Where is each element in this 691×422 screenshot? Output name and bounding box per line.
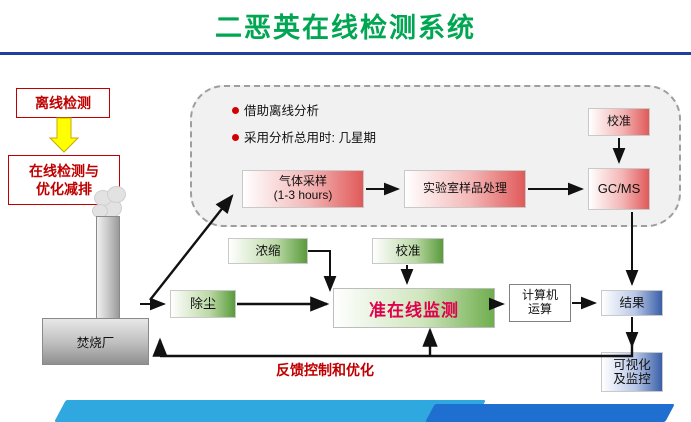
footer-swoosh-light (54, 400, 486, 422)
dust-removal-box: 除尘 (170, 290, 236, 318)
feedback-label: 反馈控制和优化 (276, 360, 374, 380)
online-detection-label: 在线检测与 优化减排 (29, 162, 99, 198)
result-box: 结果 (601, 290, 663, 316)
chimney-icon (96, 216, 120, 326)
calibration-top-box: 校准 (588, 108, 650, 136)
visualization-box: 可视化 及监控 (601, 352, 663, 392)
footer-swoosh-dark (425, 404, 675, 422)
offline-detection-box: 离线检测 (16, 88, 110, 118)
gcms-box: GC/MS (588, 168, 650, 210)
bullet-dot-icon (232, 134, 239, 141)
quasi-online-monitoring-box: 准在线监测 (333, 288, 495, 328)
incineration-plant-box: 焚烧厂 (42, 318, 149, 365)
calibration-box: 校准 (372, 238, 444, 264)
slide-canvas: 二恶英在线检测系统 离线检测 在线检测与 优化减排 借助离线分析 采用分析总用时… (0, 0, 691, 420)
panel-bullet-1: 借助离线分析 (232, 100, 319, 119)
page-title: 二恶英在线检测系统 (0, 6, 691, 45)
gas-sampling-box: 气体采样 (1-3 hours) (242, 170, 364, 208)
lab-sample-box: 实验室样品处理 (404, 170, 526, 208)
concentrate-box: 浓缩 (228, 238, 308, 264)
panel-bullet-2: 采用分析总用时: 几星期 (232, 127, 376, 146)
title-divider (0, 52, 691, 55)
bullet-dot-icon (232, 107, 239, 114)
computer-box: 计算机 运算 (509, 284, 571, 322)
